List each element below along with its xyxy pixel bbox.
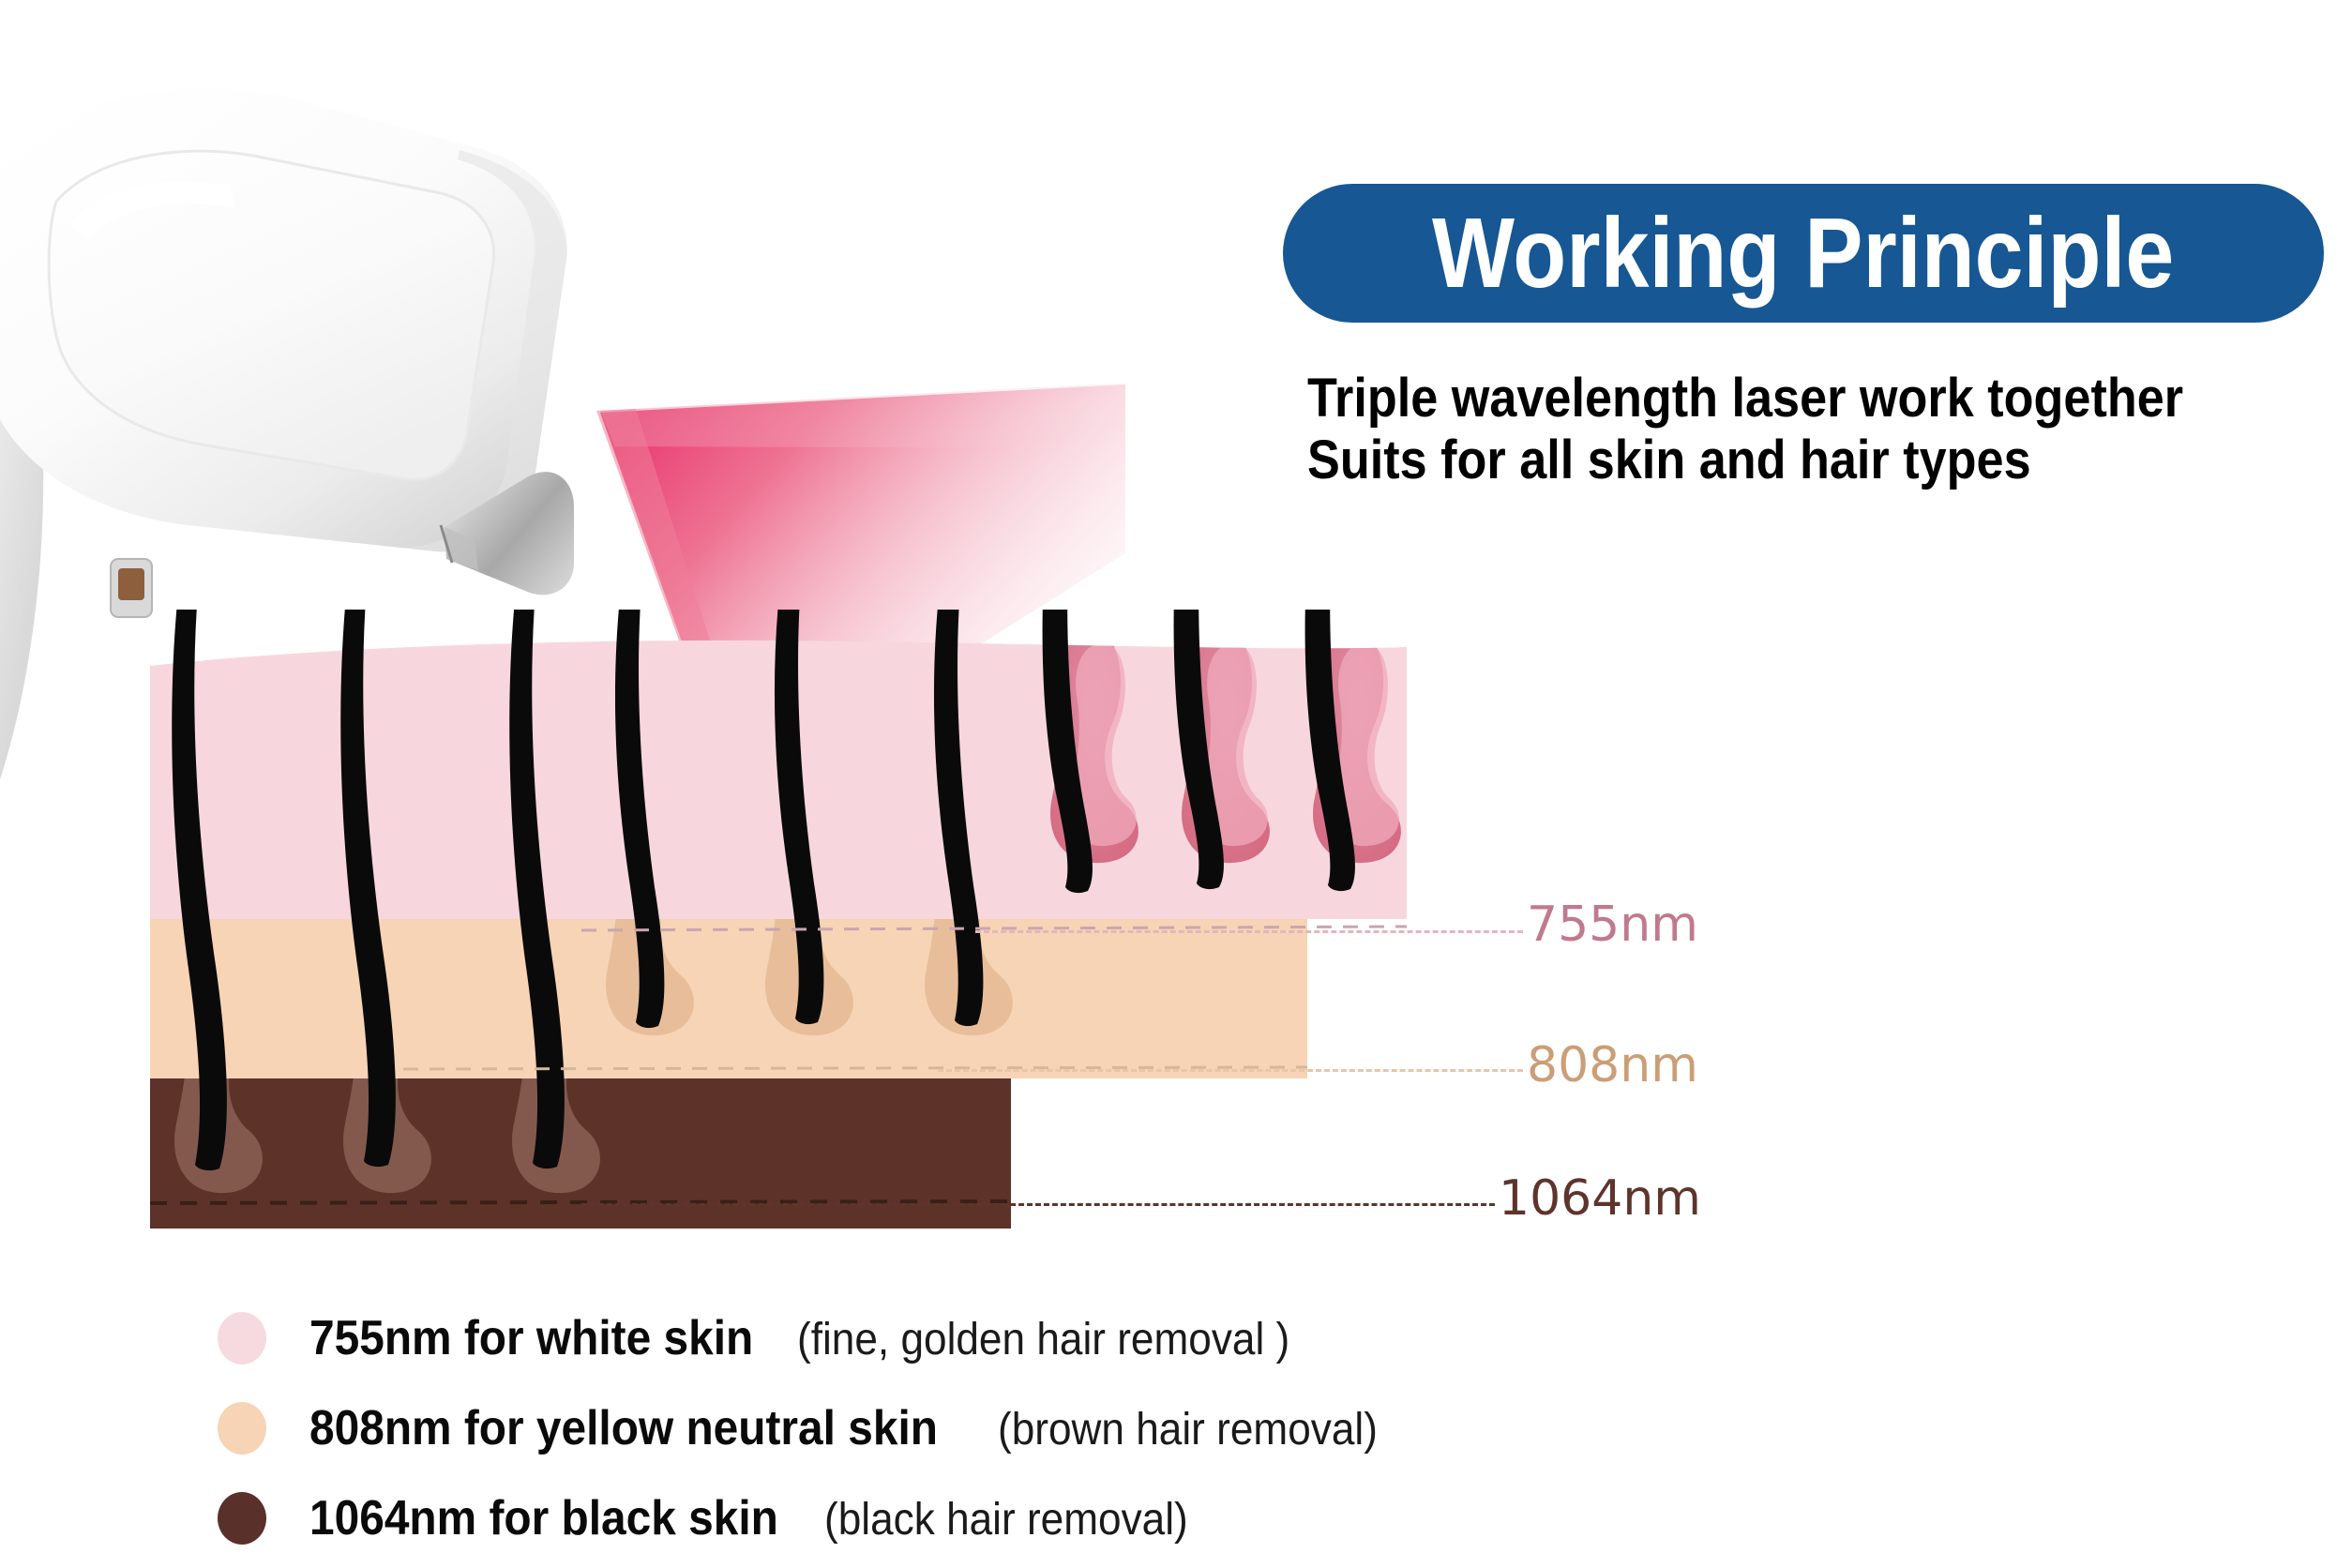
callout-label-808nm: 808nm — [1527, 1041, 1698, 1090]
leader-line-808nm — [938, 1069, 1523, 1072]
callout-label-755nm: 755nm — [1527, 900, 1698, 949]
subtitle-block: Triple wavelength laser work together Su… — [1307, 368, 2339, 491]
leader-line-1064nm — [581, 1203, 1495, 1206]
legend-item-1064nm: 1064nm for black skin (black hair remova… — [218, 1482, 1718, 1555]
legend-swatch-755nm — [218, 1312, 266, 1364]
legend-swatch-808nm — [218, 1402, 266, 1455]
handpiece-head — [0, 89, 567, 551]
legend-item-808nm: 808nm for yellow neutral skin (brown hai… — [218, 1392, 1718, 1465]
subtitle-line-1: Triple wavelength laser work together — [1307, 368, 2236, 430]
legend-item-755nm: 755nm for white skin (fine, golden hair … — [218, 1302, 1718, 1375]
legend-note-1064nm: (black hair removal) — [824, 1494, 1188, 1545]
legend-note-755nm: (fine, golden hair removal ) — [797, 1314, 1289, 1365]
page-title: Working Principle — [1432, 204, 2174, 303]
handpiece-trigger-button[interactable] — [111, 559, 152, 617]
legend-title-808nm: 808nm for yellow neutral skin — [309, 1400, 938, 1456]
working-principle-infographic: 755nm 808nm 1064nm Working Principle Tri… — [0, 0, 2352, 1568]
leader-line-755nm — [975, 930, 1523, 933]
legend-title-755nm: 755nm for white skin — [309, 1310, 753, 1366]
wavelength-legend: 755nm for white skin (fine, golden hair … — [218, 1302, 1718, 1568]
skin-cross-section-diagram — [150, 610, 1576, 1266]
callout-label-1064nm: 1064nm — [1499, 1174, 1701, 1223]
subtitle-line-2: Suits for all skin and hair types — [1307, 430, 2236, 491]
legend-swatch-1064nm — [218, 1492, 266, 1545]
page-title-pill: Working Principle — [1283, 184, 2324, 323]
legend-title-1064nm: 1064nm for black skin — [309, 1490, 778, 1546]
legend-note-808nm: (brown hair removal) — [998, 1404, 1378, 1455]
